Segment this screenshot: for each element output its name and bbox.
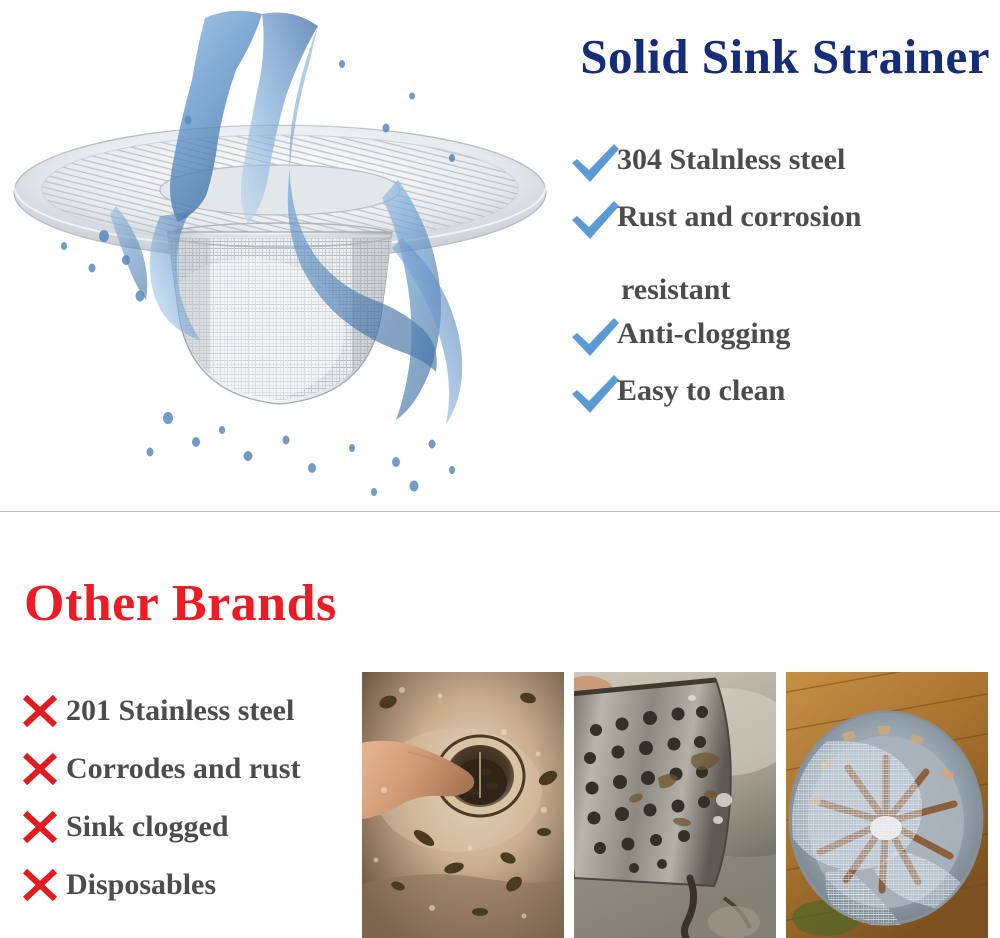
drawback-list: 201 Stainless steel Corrodes and rust Si… — [18, 682, 358, 914]
comparison-photo-strip — [362, 672, 990, 938]
other-brands-section: Other Brands 201 Stainless steel Corrode… — [0, 512, 1000, 938]
product-highlights-section: Solid Sink Strainer 304 Stalnless steel … — [0, 0, 1000, 510]
drawback-label: Sink clogged — [66, 808, 229, 846]
check-icon — [569, 142, 621, 186]
drawback-item-sink-clogged: Sink clogged — [18, 798, 358, 856]
check-icon — [569, 199, 621, 243]
feature-label: Rust and corrosion — [617, 197, 861, 237]
x-icon — [18, 750, 62, 788]
check-icon — [569, 316, 621, 360]
check-icon — [569, 373, 621, 417]
drawback-label: Corrodes and rust — [66, 750, 300, 788]
drawback-label: 201 Stainless steel — [66, 692, 294, 730]
drawback-item-disposables: Disposables — [18, 856, 358, 914]
feature-list: 304 Stalnless steel Rust and corrosion r… — [565, 140, 995, 428]
x-icon — [18, 692, 62, 730]
feature-item-anti-clogging: Anti-clogging — [565, 314, 995, 371]
photo-clogged-sink-drain — [362, 672, 564, 938]
feature-label-continuation: resistant — [621, 270, 995, 310]
feature-item-stainless: 304 Stalnless steel — [565, 140, 995, 197]
feature-label: Easy to clean — [617, 371, 785, 411]
drawback-item-corrodes: Corrodes and rust — [18, 740, 358, 798]
photo-disposable-mesh-net — [786, 672, 988, 938]
feature-item-rust-resistant: Rust and corrosion — [565, 197, 995, 254]
x-icon — [18, 866, 62, 904]
photo-dirty-metal-basket — [574, 672, 776, 938]
feature-item-easy-to-clean: Easy to clean — [565, 371, 995, 428]
feature-label: Anti-clogging — [617, 314, 790, 354]
drawback-item-201-stainless: 201 Stainless steel — [18, 682, 358, 740]
feature-label: 304 Stalnless steel — [617, 140, 845, 180]
x-icon — [18, 808, 62, 846]
page-title: Solid Sink Strainer — [470, 28, 990, 85]
drawback-label: Disposables — [66, 866, 216, 904]
other-brands-title: Other Brands — [24, 574, 337, 633]
